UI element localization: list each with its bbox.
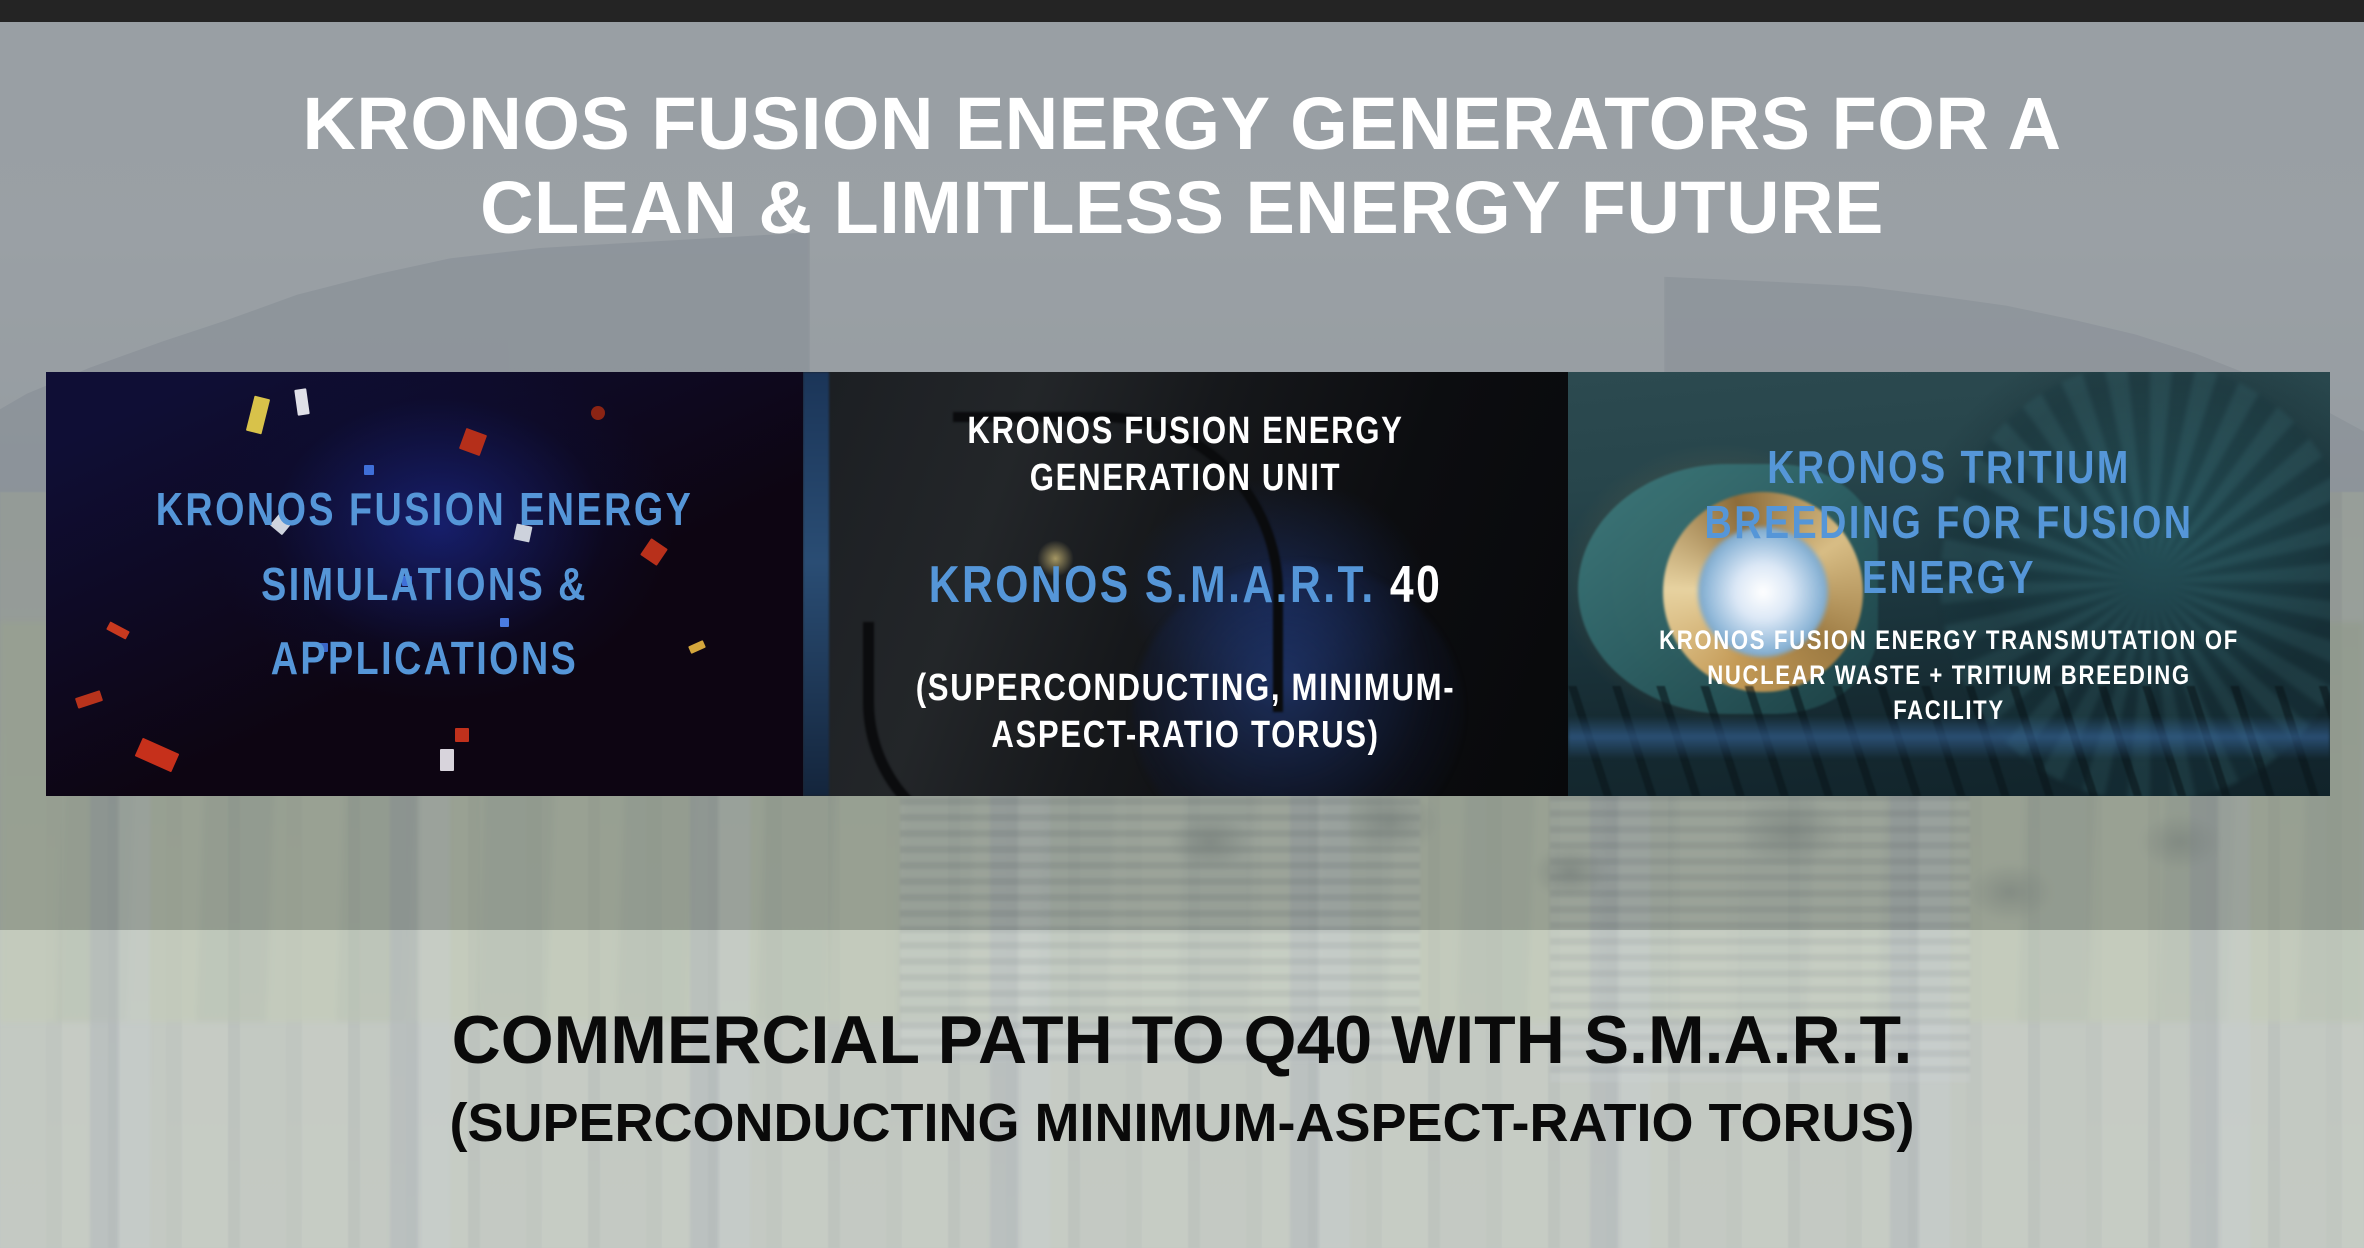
- panel-tritium-breeding[interactable]: KRONOS TRITIUM BREEDING FOR FUSION ENERG…: [1568, 372, 2330, 796]
- model-number: 40: [1390, 556, 1442, 614]
- panel-generation-unit-model: KRONOS S.M.A.R.T. 40: [893, 554, 1478, 616]
- bottom-headline-line1: COMMERCIAL PATH TO Q40 WITH S.M.A.R.T.: [160, 1000, 2204, 1080]
- panel-simulations[interactable]: KRONOS FUSION ENERGY SIMULATIONS & APPLI…: [46, 372, 803, 796]
- panel-tritium-text: KRONOS TRITIUM BREEDING FOR FUSION ENERG…: [1594, 440, 2304, 729]
- panel-band: KRONOS FUSION ENERGY SIMULATIONS & APPLI…: [46, 372, 2330, 796]
- panel-generation-unit-subtitle: (SUPERCONDUCTING, MINIMUM-ASPECT-RATIO T…: [893, 665, 1478, 760]
- blue-edge-accent: [803, 372, 829, 796]
- panel-simulations-text: KRONOS FUSION ENERGY SIMULATIONS & APPLI…: [72, 472, 777, 696]
- panel-generation-unit-text: KRONOS FUSION ENERGY GENERATION UNIT KRO…: [829, 408, 1542, 760]
- panel-tritium-title: KRONOS TRITIUM BREEDING FOR FUSION ENERG…: [1658, 440, 2240, 606]
- page-title: KRONOS FUSION ENERGY GENERATORS FOR A CL…: [0, 82, 2364, 249]
- bottom-headline-line2: (SUPERCONDUCTING MINIMUM-ASPECT-RATIO TO…: [160, 1092, 2204, 1156]
- panel-generation-unit-heading: KRONOS FUSION ENERGY GENERATION UNIT: [893, 408, 1478, 502]
- slide-root: KRONOS FUSION ENERGY GENERATORS FOR A CL…: [0, 0, 2364, 1248]
- bottom-headline: COMMERCIAL PATH TO Q40 WITH S.M.A.R.T. (…: [0, 1000, 2364, 1156]
- top-bar: [0, 0, 2364, 22]
- panel-simulations-title: KRONOS FUSION ENERGY SIMULATIONS & APPLI…: [135, 472, 713, 696]
- panel-tritium-subtitle: KRONOS FUSION ENERGY TRANSMUTATION OF NU…: [1658, 623, 2240, 728]
- panel-generation-unit[interactable]: KRONOS FUSION ENERGY GENERATION UNIT KRO…: [803, 372, 1568, 796]
- model-name: KRONOS S.M.A.R.T.: [929, 556, 1376, 614]
